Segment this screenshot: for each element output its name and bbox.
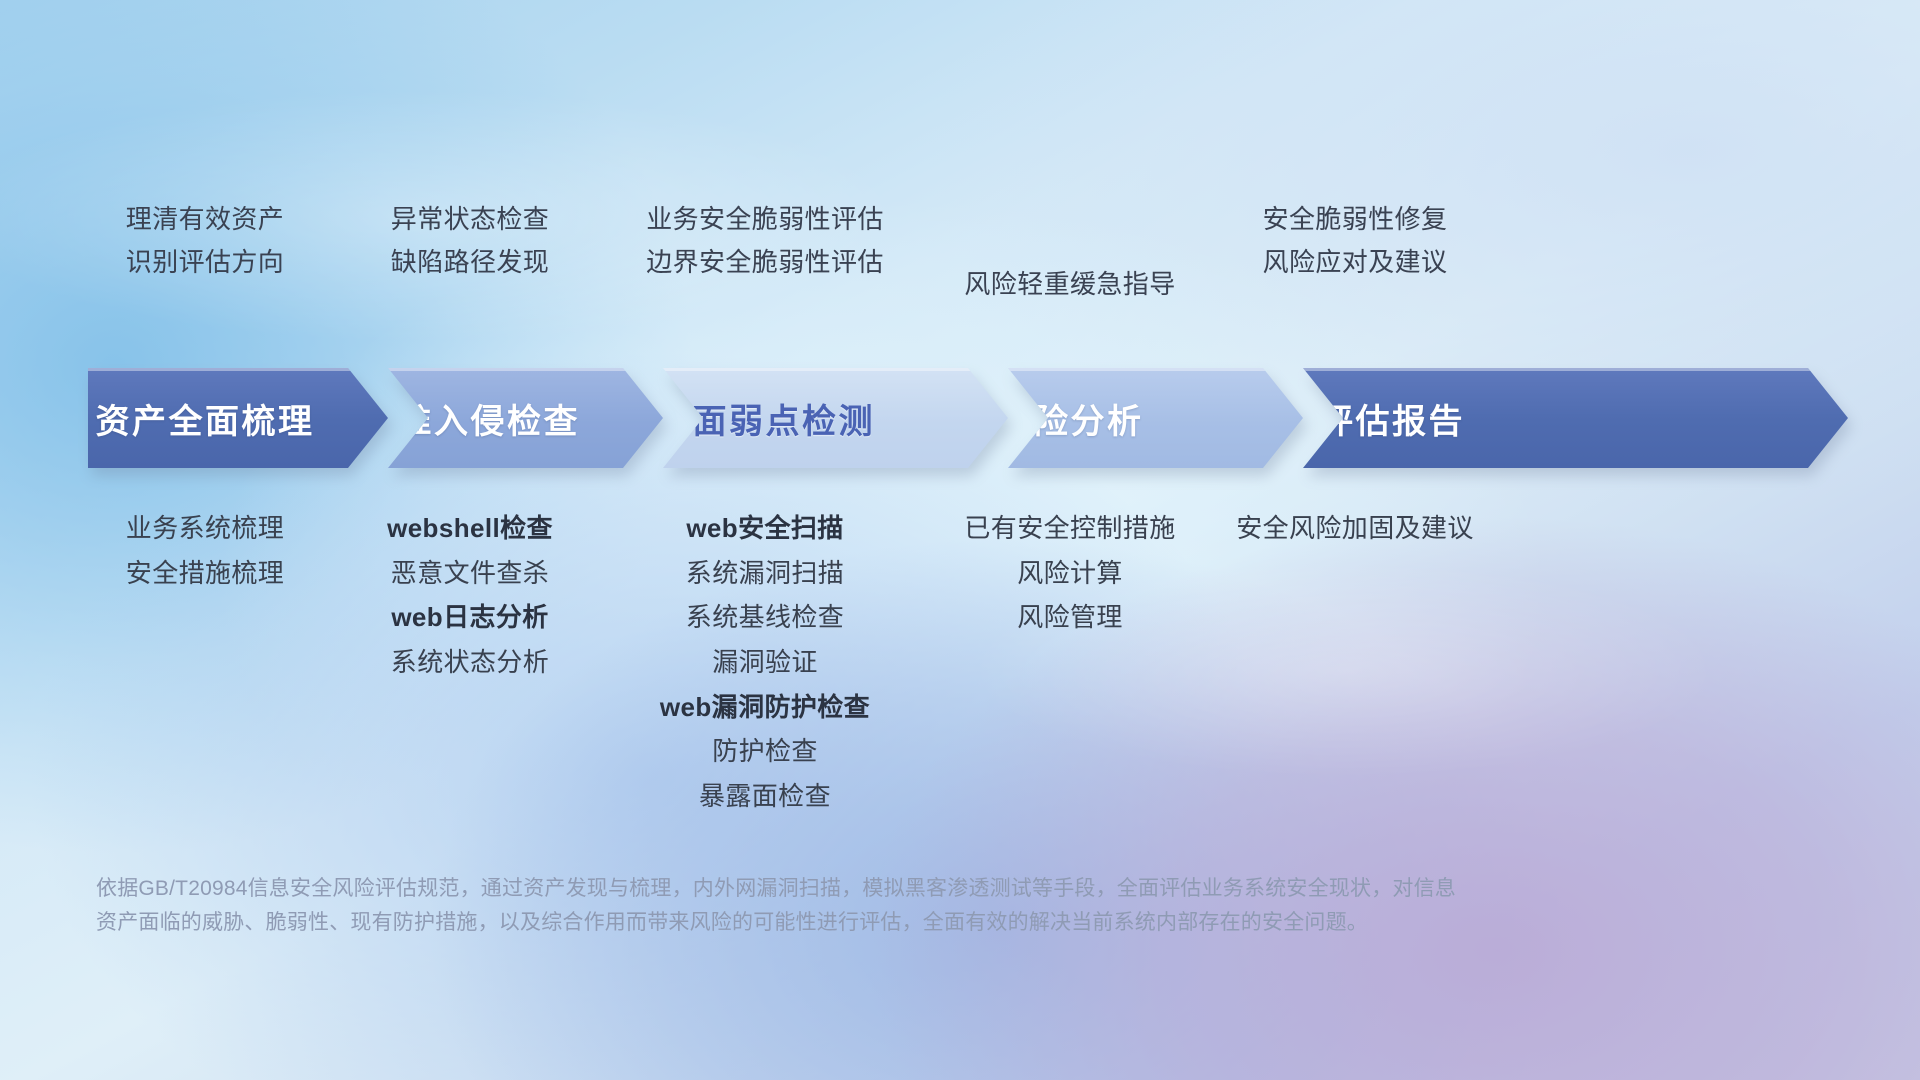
stage-input-item: 安全脆弱性修复 xyxy=(1190,204,1520,235)
stage-input-item: 风险轻重缓急指导 xyxy=(905,269,1235,300)
stage-input-item: 异常状态检查 xyxy=(305,204,635,235)
stage-output-item: 风险计算 xyxy=(905,558,1235,589)
footer-line: 资产面临的威胁、脆弱性、现有防护措施，以及综合作用而带来风险的可能性进行评估，全… xyxy=(96,906,1636,940)
stage-outputs-assessment-report: 安全风险加固及建议 xyxy=(1190,513,1520,544)
stage-output-item: web日志分析 xyxy=(305,602,635,633)
stage-output-item: 防护检查 xyxy=(600,736,930,767)
stage-output-item: web安全扫描 xyxy=(600,513,930,544)
stage-output-item: web漏洞防护检查 xyxy=(600,692,930,723)
stage-outputs-risk-analysis: 已有安全控制措施风险计算风险管理 xyxy=(905,513,1235,633)
stage-label: 资产全面梳理 xyxy=(96,394,315,443)
stage-inputs-intrusion-check: 异常状态检查缺陷路径发现 xyxy=(305,204,635,278)
stage-input-item: 风险应对及建议 xyxy=(1190,247,1520,278)
stage-output-item: 风险管理 xyxy=(905,602,1235,633)
process-stage-asset-inventory[interactable]: 资产全面梳理 xyxy=(88,368,388,468)
process-stage-intrusion-check[interactable]: 精准入侵检查 xyxy=(388,368,663,468)
process-stage-risk-analysis[interactable]: 风险分析 xyxy=(1008,368,1303,468)
stage-label: 精准入侵检查 xyxy=(361,394,580,443)
stage-output-item: 已有安全控制措施 xyxy=(905,513,1235,544)
stage-output-item: 系统漏洞扫描 xyxy=(600,558,930,589)
banner-segments: 资产全面梳理精准入侵检查全面弱点检测风险分析风险评估报告 xyxy=(88,368,1848,468)
stage-output-item: 漏洞验证 xyxy=(600,647,930,678)
stage-output-item: 系统基线检查 xyxy=(600,602,930,633)
stage-input-item: 缺陷路径发现 xyxy=(305,247,635,278)
stage-label: 全面弱点检测 xyxy=(656,394,875,443)
process-stage-weakness-detection[interactable]: 全面弱点检测 xyxy=(663,368,1008,468)
stage-output-item: webshell检查 xyxy=(305,513,635,544)
stage-output-item: 暴露面检查 xyxy=(600,781,930,812)
stage-input-item: 业务安全脆弱性评估 xyxy=(600,204,930,235)
stage-inputs-risk-analysis: 风险轻重缓急指导 xyxy=(905,269,1235,300)
process-banner: 资产全面梳理精准入侵检查全面弱点检测风险分析风险评估报告 xyxy=(88,368,1848,468)
stage-outputs-weakness-detection: web安全扫描系统漏洞扫描系统基线检查漏洞验证web漏洞防护检查防护检查暴露面检… xyxy=(600,513,930,812)
stage-input-item: 边界安全脆弱性评估 xyxy=(600,247,930,278)
stage-outputs-intrusion-check: webshell检查恶意文件查杀web日志分析系统状态分析 xyxy=(305,513,635,678)
stage-inputs-assessment-report: 安全脆弱性修复风险应对及建议 xyxy=(1190,204,1520,278)
footer-line: 依据GB/T20984信息安全风险评估规范，通过资产发现与梳理，内外网漏洞扫描，… xyxy=(96,872,1636,906)
process-stage-assessment-report[interactable]: 风险评估报告 xyxy=(1303,368,1848,468)
footer-description: 依据GB/T20984信息安全风险评估规范，通过资产发现与梳理，内外网漏洞扫描，… xyxy=(96,872,1636,940)
stage-output-item: 恶意文件查杀 xyxy=(305,558,635,589)
stage-output-item: 系统状态分析 xyxy=(305,647,635,678)
stage-output-item: 安全风险加固及建议 xyxy=(1190,513,1520,544)
stage-label: 风险分析 xyxy=(998,394,1144,443)
stage-inputs-weakness-detection: 业务安全脆弱性评估边界安全脆弱性评估 xyxy=(600,204,930,278)
process-diagram: 理清有效资产识别评估方向业务系统梳理安全措施梳理异常状态检查缺陷路径发现webs… xyxy=(0,0,1920,1080)
